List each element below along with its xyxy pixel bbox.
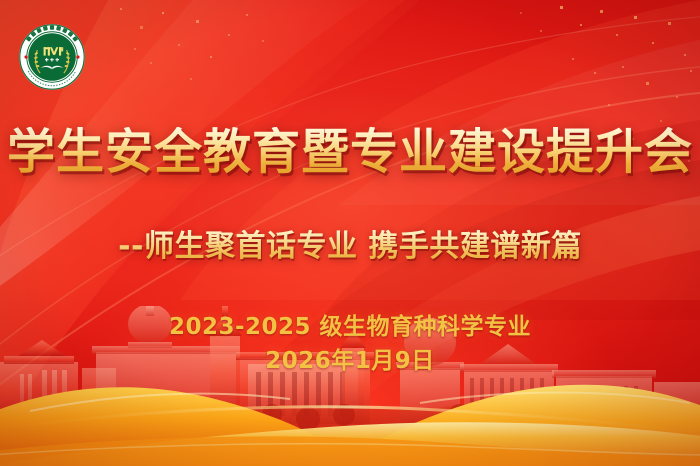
poster-subtitle: --师生聚首话专业 携手共建谱新篇	[0, 221, 700, 265]
poster-main-title: 学生安全教育暨专业建设提升会	[0, 127, 700, 179]
poster-audience-line: 2023-2025 级生物育种科学专业	[0, 307, 700, 341]
poster-date-line: 2026年1月9日	[0, 341, 700, 375]
university-emblem-logo	[17, 22, 87, 92]
poster-canvas: 学生安全教育暨专业建设提升会 --师生聚首话专业 携手共建谱新篇 2023-20…	[0, 0, 700, 466]
